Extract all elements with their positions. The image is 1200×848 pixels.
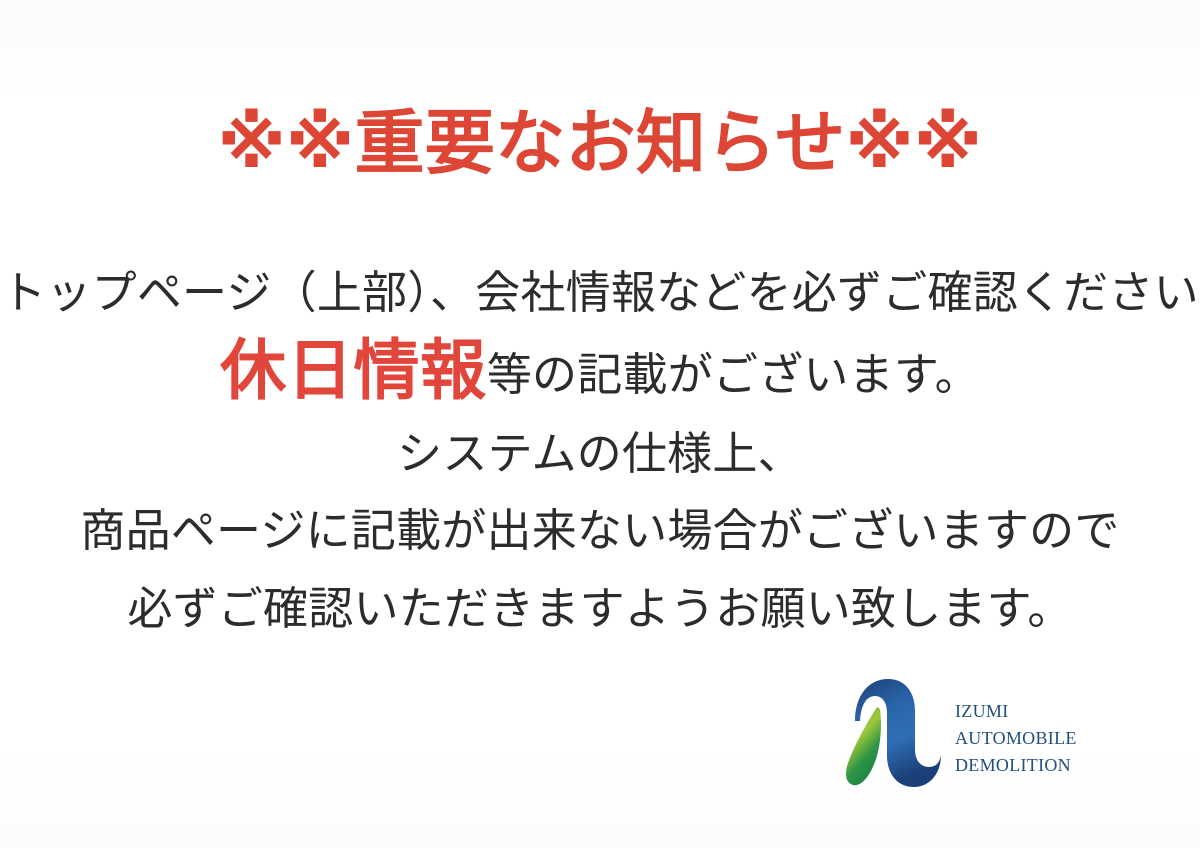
izumi-wave-leaf-mark-icon (833, 669, 945, 793)
notice-line-2-tail: 等の記載がございます。 (487, 349, 980, 400)
notice-line-4: 商品ページに記載が出来ない場合がございますので (0, 492, 1200, 570)
notice-body: トップページ（上部）、会社情報などを必ずご確認ください 休日情報等の記載がござい… (0, 262, 1200, 648)
notice-line-5: 必ずご確認いただきますようお願い致します。 (0, 570, 1200, 648)
notice-content: ※※重要なお知らせ※※ トップページ（上部）、会社情報などを必ずご確認ください … (0, 0, 1200, 848)
logo-line-demolition: Demolition (955, 750, 1077, 777)
logo-line-izumi: Izumi (955, 697, 1077, 723)
logo-wordmark: Izumi Automobile Demolition (955, 685, 1077, 777)
notice-line-1: トップページ（上部）、会社情報などを必ずご確認ください (0, 262, 1200, 324)
notice-page: ※※重要なお知らせ※※ トップページ（上部）、会社情報などを必ずご確認ください … (0, 0, 1200, 848)
logo-line-automobile: Automobile (955, 723, 1077, 750)
holiday-info-emphasis: 休日情報 (220, 333, 487, 407)
company-logo: Izumi Automobile Demolition (833, 668, 1105, 794)
notice-headline: ※※重要なお知らせ※※ (0, 108, 1200, 178)
notice-line-3: システムの仕様上、 (0, 416, 1200, 492)
notice-line-2: 休日情報等の記載がございます。 (0, 324, 1200, 416)
